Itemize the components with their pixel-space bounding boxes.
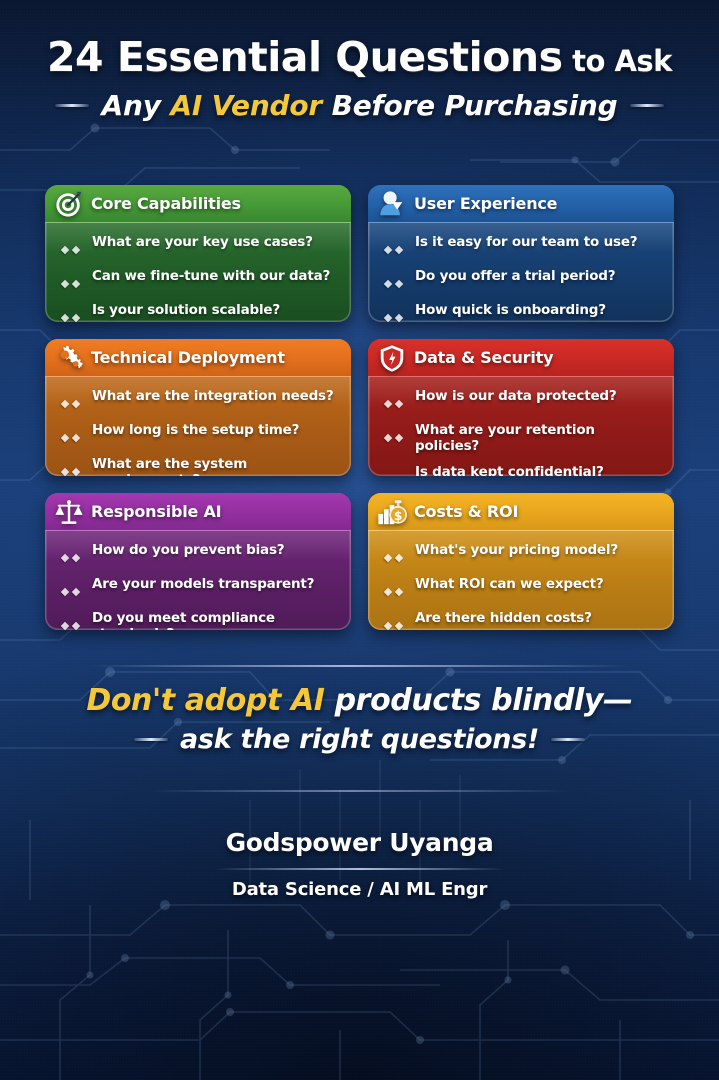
subtitle-suffix: Before Purchasing	[322, 89, 617, 122]
question-text: What are the system requirements?	[92, 456, 339, 476]
diamond-bullet-icon	[385, 582, 407, 600]
question-item: What ROI can we expect?	[385, 576, 662, 600]
card-title: Core Capabilities	[91, 194, 241, 213]
diamond-bullet-icon	[385, 308, 407, 322]
question-item: What are your key use cases?	[62, 234, 339, 258]
card-title: Responsible AI	[91, 502, 221, 521]
question-text: What are your key use cases?	[92, 234, 313, 250]
infographic-poster: 24 Essential Questions to Ask Any AI Ven…	[0, 0, 719, 1080]
diamond-bullet-icon	[385, 240, 407, 258]
question-item: Is your solution scalable?	[62, 302, 339, 322]
divider-above-slogan	[90, 665, 629, 667]
card-body: How do you prevent bias? Are your models…	[45, 531, 351, 630]
question-text: What are the integration needs?	[92, 388, 334, 404]
diamond-bullet-icon	[62, 548, 84, 566]
card-body: Is it easy for our team to use? Do you o…	[368, 223, 674, 322]
question-item: Can we fine-tune with our data?	[62, 268, 339, 292]
card-title: User Experience	[414, 194, 557, 213]
target-icon	[54, 189, 84, 219]
card-header: Technical Deployment	[45, 339, 351, 377]
question-text: How do you prevent bias?	[92, 542, 284, 558]
diamond-bullet-icon	[385, 394, 407, 412]
money-chart-icon: $	[377, 497, 407, 527]
question-item: What are the integration needs?	[62, 388, 339, 412]
diamond-bullet-icon	[62, 308, 84, 322]
subtitle-row: Any AI Vendor Before Purchasing	[0, 89, 719, 122]
author-divider	[215, 868, 505, 870]
question-text: How is our data protected?	[415, 388, 617, 404]
dash-left-decor	[55, 104, 89, 107]
author-block: Godspower Uyanga Data Science / AI ML En…	[0, 828, 719, 900]
card-body: What's your pricing model? What ROI can …	[368, 531, 674, 630]
question-text: Are there hidden costs?	[415, 610, 592, 626]
card-responsible-ai[interactable]: Responsible AI How do you prevent bias? …	[45, 493, 351, 630]
slogan-line-2-row: ask the right questions!	[0, 724, 719, 755]
diamond-bullet-icon	[62, 428, 84, 446]
question-text: Can we fine-tune with our data?	[92, 268, 330, 284]
card-title: Technical Deployment	[91, 348, 285, 367]
question-item: How quick is onboarding?	[385, 302, 662, 322]
card-title: Costs & ROI	[414, 502, 518, 521]
question-item: What are the system requirements?	[62, 456, 339, 476]
question-item: Is it easy for our team to use?	[385, 234, 662, 258]
dash-left-decor	[134, 738, 168, 741]
diamond-bullet-icon	[62, 582, 84, 600]
question-item: What are your retention policies?	[385, 422, 662, 454]
user-icon	[377, 189, 407, 219]
diamond-bullet-icon	[385, 470, 407, 476]
diamond-bullet-icon	[385, 428, 407, 446]
card-header: Responsible AI	[45, 493, 351, 531]
diamond-bullet-icon	[62, 240, 84, 258]
question-text: How quick is onboarding?	[415, 302, 606, 318]
card-header: $ Costs & ROI	[368, 493, 674, 531]
svg-text:$: $	[394, 508, 402, 522]
question-item: Are your models transparent?	[62, 576, 339, 600]
slogan-block: Don't adopt AI products blindly— ask the…	[0, 683, 719, 755]
card-body: How is our data protected? What are your…	[368, 377, 674, 476]
divider-below-slogan	[150, 790, 569, 792]
diamond-bullet-icon	[62, 274, 84, 292]
question-item: Do you meet compliance standards?	[62, 610, 339, 630]
question-text: How long is the setup time?	[92, 422, 299, 438]
question-text: Is data kept confidential?	[415, 464, 604, 476]
diamond-bullet-icon	[62, 394, 84, 412]
shield-icon	[377, 343, 407, 373]
gears-icon	[54, 343, 84, 373]
card-body: What are the integration needs? How long…	[45, 377, 351, 476]
question-text: What ROI can we expect?	[415, 576, 603, 592]
question-text: Are your models transparent?	[92, 576, 314, 592]
question-item: Is data kept confidential?	[385, 464, 662, 476]
question-text: What are your retention policies?	[415, 422, 662, 454]
diamond-bullet-icon	[62, 462, 84, 476]
poster-header: 24 Essential Questions to Ask Any AI Ven…	[0, 0, 719, 122]
diamond-bullet-icon	[385, 548, 407, 566]
card-core-capabilities[interactable]: Core Capabilities What are your key use …	[45, 185, 351, 322]
page-title: 24 Essential Questions to Ask	[0, 36, 719, 79]
question-item: How long is the setup time?	[62, 422, 339, 446]
diamond-bullet-icon	[385, 616, 407, 630]
dash-right-decor	[630, 104, 664, 107]
diamond-bullet-icon	[385, 274, 407, 292]
card-header: Core Capabilities	[45, 185, 351, 223]
scales-icon	[54, 497, 84, 527]
card-header: Data & Security	[368, 339, 674, 377]
diamond-bullet-icon	[62, 616, 84, 630]
question-item: What's your pricing model?	[385, 542, 662, 566]
card-costs-roi[interactable]: $ Costs & ROI What's your pricing model?…	[368, 493, 674, 630]
question-card-grid: Core Capabilities What are your key use …	[45, 185, 674, 630]
page-subtitle: Any AI Vendor Before Purchasing	[102, 89, 618, 122]
slogan-highlight: Don't adopt AI	[86, 683, 324, 718]
question-item: How is our data protected?	[385, 388, 662, 412]
subtitle-highlight: AI Vendor	[170, 89, 322, 122]
author-role: Data Science / AI ML Engr	[0, 879, 719, 900]
question-text: Is your solution scalable?	[92, 302, 280, 318]
title-main-text: 24 Essential Questions	[47, 33, 562, 81]
question-text: Do you meet compliance standards?	[92, 610, 339, 630]
card-data-security[interactable]: Data & Security How is our data protecte…	[368, 339, 674, 476]
subtitle-prefix: Any	[102, 89, 171, 122]
title-suffix-text: to Ask	[562, 44, 671, 78]
author-name: Godspower Uyanga	[0, 828, 719, 857]
question-item: Are there hidden costs?	[385, 610, 662, 630]
card-title: Data & Security	[414, 348, 553, 367]
card-body: What are your key use cases? Can we fine…	[45, 223, 351, 322]
question-text: Do you offer a trial period?	[415, 268, 615, 284]
card-user-experience[interactable]: User Experience Is it easy for our team …	[368, 185, 674, 322]
slogan-line-1: Don't adopt AI products blindly—	[0, 683, 719, 718]
question-text: What's your pricing model?	[415, 542, 618, 558]
slogan-line-1-rest: products blindly—	[325, 683, 633, 718]
question-item: Do you offer a trial period?	[385, 268, 662, 292]
question-item: How do you prevent bias?	[62, 542, 339, 566]
card-header: User Experience	[368, 185, 674, 223]
slogan-line-2: ask the right questions!	[180, 724, 539, 755]
dash-right-decor	[551, 738, 585, 741]
card-technical-deployment[interactable]: Technical Deployment What are the integr…	[45, 339, 351, 476]
question-text: Is it easy for our team to use?	[415, 234, 637, 250]
